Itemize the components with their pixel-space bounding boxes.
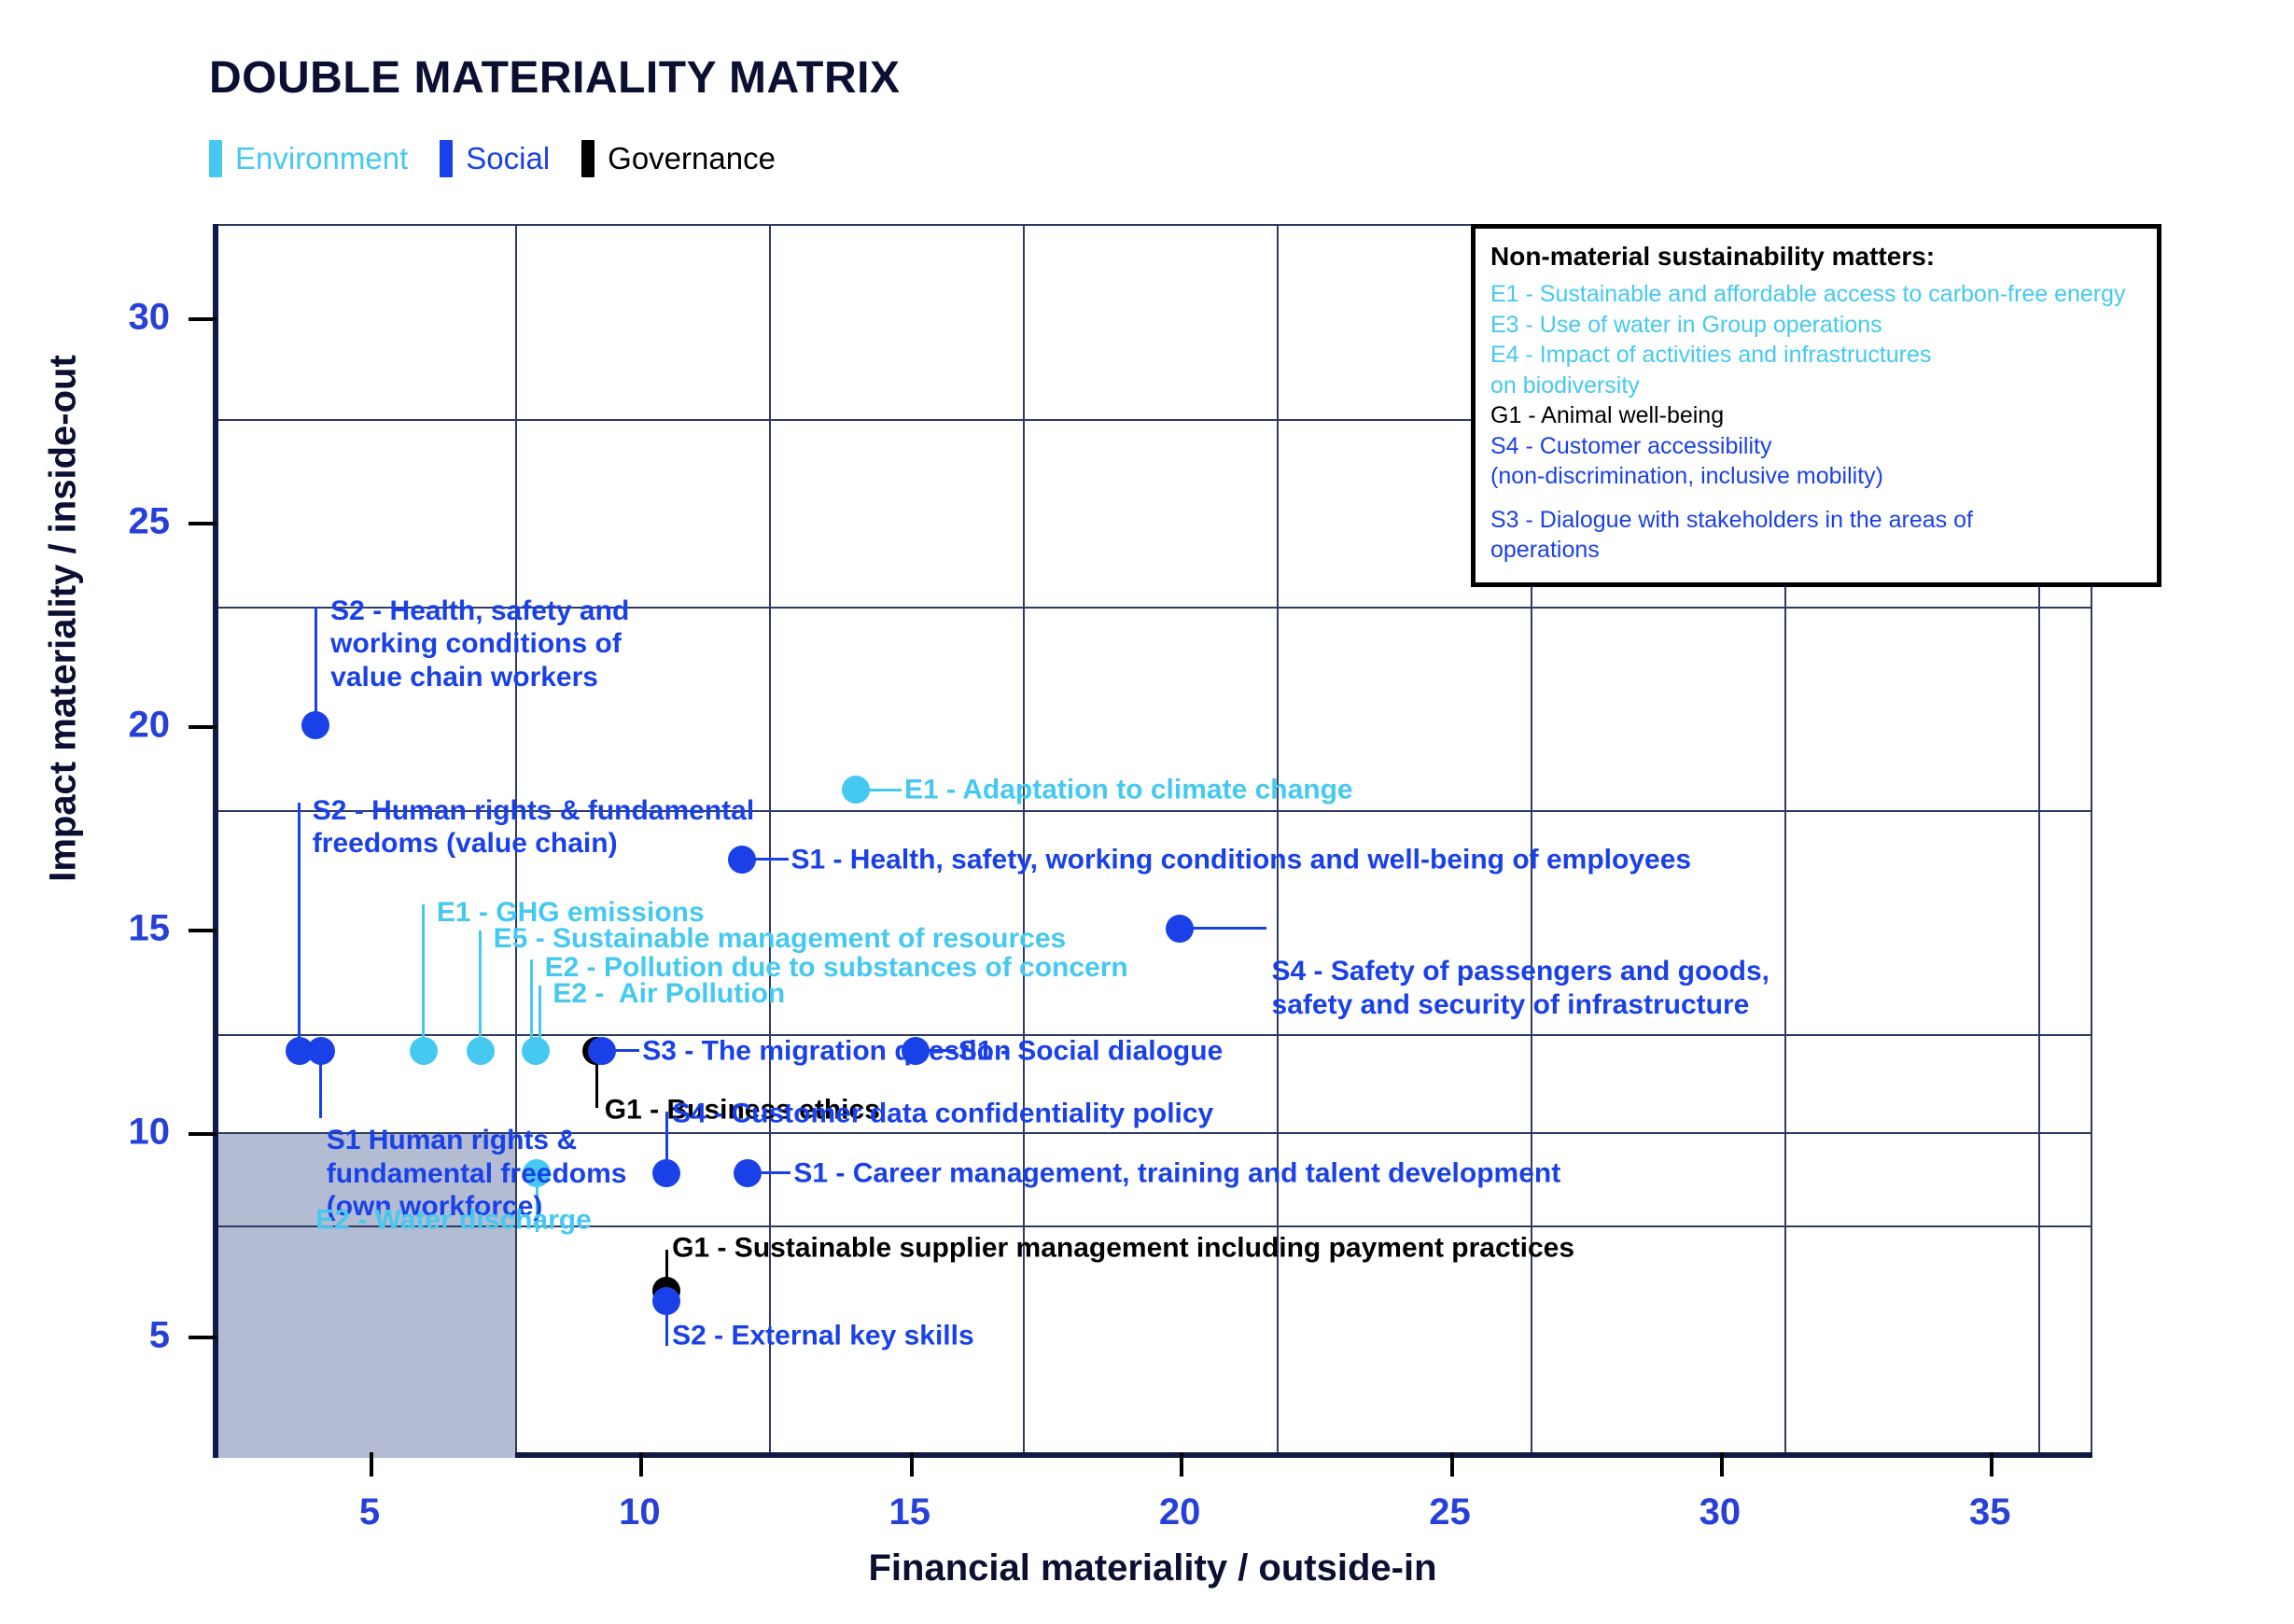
non-material-matter-line: G1 - Animal well-being <box>1490 400 2142 431</box>
non-material-matters-box: Non-material sustainability matters: E1 … <box>1471 224 2161 587</box>
point-e1-ghg[interactable] <box>410 1037 438 1065</box>
label-e1-adaptation: E1 - Adaptation to climate change <box>904 774 1353 806</box>
y-tick-label: 10 <box>129 1111 171 1153</box>
x-tick-label: 15 <box>889 1491 931 1533</box>
leader-line <box>479 931 482 1051</box>
x-tick-mark <box>1450 1452 1454 1477</box>
point-s3-migration-question[interactable] <box>588 1037 616 1065</box>
point-s1-career-management[interactable] <box>734 1159 762 1187</box>
label-e2-air-pollution: E2 - Air Pollution <box>553 977 785 1010</box>
y-tick-mark <box>189 522 217 525</box>
vertical-gridline <box>769 224 771 1452</box>
label-e2-water-discharge: E2 - Water discharge <box>315 1203 592 1236</box>
y-tick-label: 30 <box>129 297 171 339</box>
x-axis-title: Financial materiality / outside-in <box>213 1547 2092 1589</box>
vertical-gridline <box>1277 224 1279 1452</box>
x-tick-label: 35 <box>1969 1491 2011 1533</box>
y-tick-mark <box>189 929 217 932</box>
y-tick-mark <box>189 1336 217 1339</box>
legend: EnvironmentSocialGovernance <box>209 140 807 177</box>
label-s4-customer-data: S4 - Customer data confidentiality polic… <box>672 1098 1213 1130</box>
leader-line <box>298 803 301 1051</box>
legend-item-social[interactable]: Social <box>440 140 550 177</box>
y-tick-mark <box>189 1132 217 1136</box>
label-s3-migration-question: S3 - The migration question <box>642 1034 1011 1067</box>
non-material-matter-line: S3 - Dialogue with stakeholders in the a… <box>1490 505 2142 536</box>
legend-label: Environment <box>235 141 408 176</box>
y-tick-label: 5 <box>149 1315 170 1357</box>
x-tick-label: 20 <box>1159 1491 1201 1533</box>
label-s1-social-dialogue: S1 - Social dialogue <box>958 1034 1223 1067</box>
non-material-matter-line: S4 - Customer accessibility <box>1490 431 2142 462</box>
non-material-matter-line: (non-discrimination, inclusive mobility) <box>1490 461 2142 492</box>
label-g1-supplier-management: G1 - Sustainable supplier management inc… <box>672 1232 1574 1265</box>
y-tick-label: 25 <box>129 500 171 542</box>
point-e1-adaptation[interactable] <box>842 776 870 804</box>
x-tick-label: 25 <box>1429 1491 1471 1533</box>
label-s2-human-rights-value-chain: S2 - Human rights & fundamental freedoms… <box>313 794 754 861</box>
y-tick-mark <box>189 725 217 729</box>
page-title: DOUBLE MATERIALITY MATRIX <box>209 52 900 104</box>
non-material-matter-line: E3 - Use of water in Group operations <box>1490 310 2142 341</box>
point-e2-pollution-air[interactable] <box>522 1037 550 1065</box>
legend-item-environment[interactable]: Environment <box>209 140 408 177</box>
label-s2-external-key-skills: S2 - External key skills <box>672 1319 974 1351</box>
non-material-matters-title: Non-material sustainability matters: <box>1490 242 2142 272</box>
label-s2-value-chain-workers: S2 - Health, safety and working conditio… <box>330 595 629 693</box>
label-s1-career-management: S1 - Career management, training and tal… <box>793 1156 1560 1189</box>
non-material-matter-line: E4 - Impact of activities and infrastruc… <box>1490 340 2142 371</box>
point-s2-external-key-skills[interactable] <box>652 1287 680 1315</box>
non-material-matter-line: on biodiversity <box>1490 371 2142 401</box>
x-tick-label: 5 <box>359 1491 380 1533</box>
x-tick-mark <box>1720 1452 1724 1477</box>
y-tick-label: 20 <box>129 704 171 746</box>
leader-line <box>315 607 317 725</box>
point-e5-resources[interactable] <box>467 1037 495 1065</box>
legend-label: Governance <box>608 141 776 176</box>
non-material-matter-line: operations <box>1490 535 2142 566</box>
point-s1-human-rights-own-workforce[interactable] <box>307 1037 335 1065</box>
x-tick-mark <box>370 1452 373 1477</box>
leader-line <box>422 904 425 1051</box>
legend-label: Social <box>466 141 550 176</box>
legend-swatch-icon <box>581 140 594 177</box>
x-tick-label: 30 <box>1700 1491 1741 1533</box>
x-tick-mark <box>910 1452 914 1477</box>
y-axis-title: Impact materiality / inside-out <box>43 292 85 945</box>
legend-swatch-icon <box>209 140 222 177</box>
y-tick-label: 15 <box>129 907 171 949</box>
label-s4-safety-passengers: S4 - Safety of passengers and goods, saf… <box>1272 955 1769 1021</box>
x-tick-mark <box>639 1452 643 1477</box>
non-material-matters-list: E1 - Sustainable and affordable access t… <box>1490 279 2142 566</box>
point-s4-customer-data[interactable] <box>652 1159 680 1187</box>
x-tick-mark <box>1180 1452 1183 1477</box>
x-tick-label: 10 <box>619 1491 661 1533</box>
legend-swatch-icon <box>440 140 453 177</box>
non-material-matter-line: E1 - Sustainable and affordable access t… <box>1490 279 2142 310</box>
label-s1-health-safety-employees: S1 - Health, safety, working conditions … <box>790 843 1691 875</box>
y-tick-mark <box>189 317 217 321</box>
point-s4-safety-passengers[interactable] <box>1166 915 1194 943</box>
x-tick-mark <box>1990 1452 1993 1477</box>
vertical-gridline <box>1023 224 1025 1452</box>
point-s2-value-chain-workers[interactable] <box>301 711 329 739</box>
legend-item-governance[interactable]: Governance <box>581 140 776 177</box>
